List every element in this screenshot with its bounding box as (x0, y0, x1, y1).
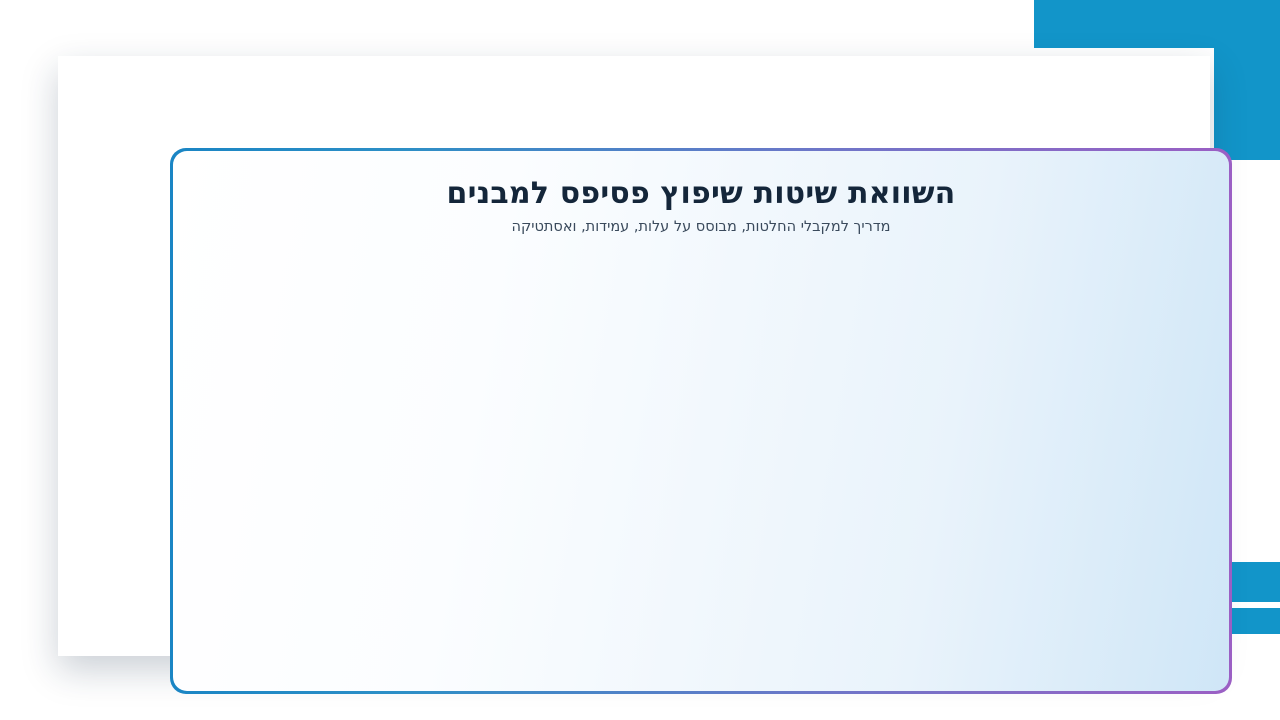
page-title: השוואת שיטות שיפוץ פסיפס למבנים (193, 177, 1209, 210)
outer-card: השוואת שיטות שיפוץ פסיפס למבנים מדריך למ… (58, 56, 1210, 656)
decorative-block-top-right (1034, 0, 1214, 48)
infographic-panel: השוואת שיטות שיפוץ פסיפס למבנים מדריך למ… (173, 151, 1229, 691)
comparison-cards-row (173, 235, 1229, 253)
header: השוואת שיטות שיפוץ פסיפס למבנים מדריך למ… (173, 151, 1229, 235)
gradient-border-frame: השוואת שיטות שיפוץ פסיפס למבנים מדריך למ… (170, 148, 1232, 694)
decorative-block-right-edge (1214, 0, 1280, 160)
page-subtitle: מדריך למקבלי החלטות, מבוסס על עלות, עמיד… (193, 219, 1209, 235)
